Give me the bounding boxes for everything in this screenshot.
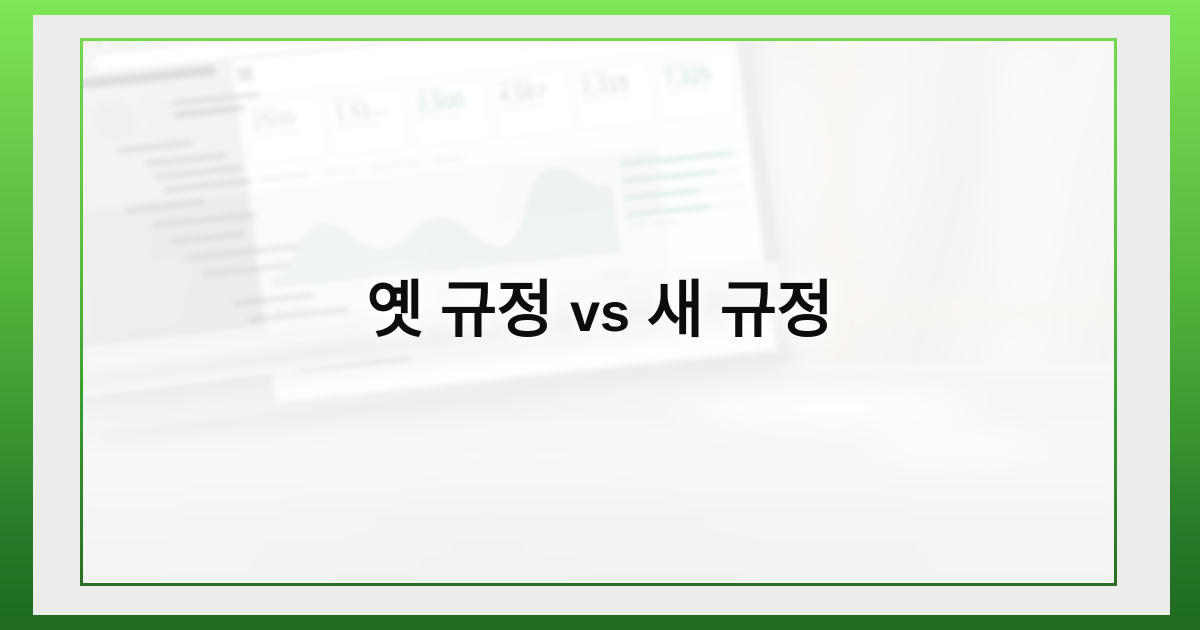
metric-unit: Sec: [373, 109, 386, 117]
reflection-sidebar: [83, 192, 267, 359]
photo-frame: Total Users 2500 +5% From Last Week Boun…: [80, 38, 1117, 586]
green-dot-icon: [95, 41, 103, 45]
desk-glare: [681, 388, 981, 428]
bokeh-shelf: [825, 301, 1114, 319]
hamburger-icon[interactable]: [236, 67, 253, 81]
tab-performance-summary[interactable]: Performance Summary: [257, 172, 309, 183]
background-photo: Total Users 2500 +5% From Last Week Boun…: [83, 41, 1114, 583]
yellow-dot-icon: [83, 41, 90, 47]
metric-card: Total Users 2500 +5% From Last Week: [244, 95, 328, 165]
metric-card: Total Views 2,500 +5% From Last Week: [408, 78, 492, 148]
header-breadcrumb: [518, 41, 720, 47]
desk-glare: [867, 431, 1047, 457]
tab-traffic-sources[interactable]: Traffic Sources: [322, 167, 356, 176]
metric-card: Total Conversions 7,325 +6% From Last We…: [655, 52, 739, 122]
metric-card: Total Clicks 2,315 +2% From Last Week: [572, 60, 656, 130]
thumbnail-canvas: Total Users 2500 +5% From Last Week Boun…: [0, 0, 1200, 630]
tab-visitor-report[interactable]: Visitor Report: [433, 155, 464, 164]
metric-card: Bounce Rate 1.51Sec +3% From Last Week: [326, 86, 410, 156]
metric-card: Total Sessions 4,567 +4% From Last Week: [490, 69, 574, 139]
tab-daily-sessions-report[interactable]: Daily Sessions Report: [370, 160, 420, 171]
